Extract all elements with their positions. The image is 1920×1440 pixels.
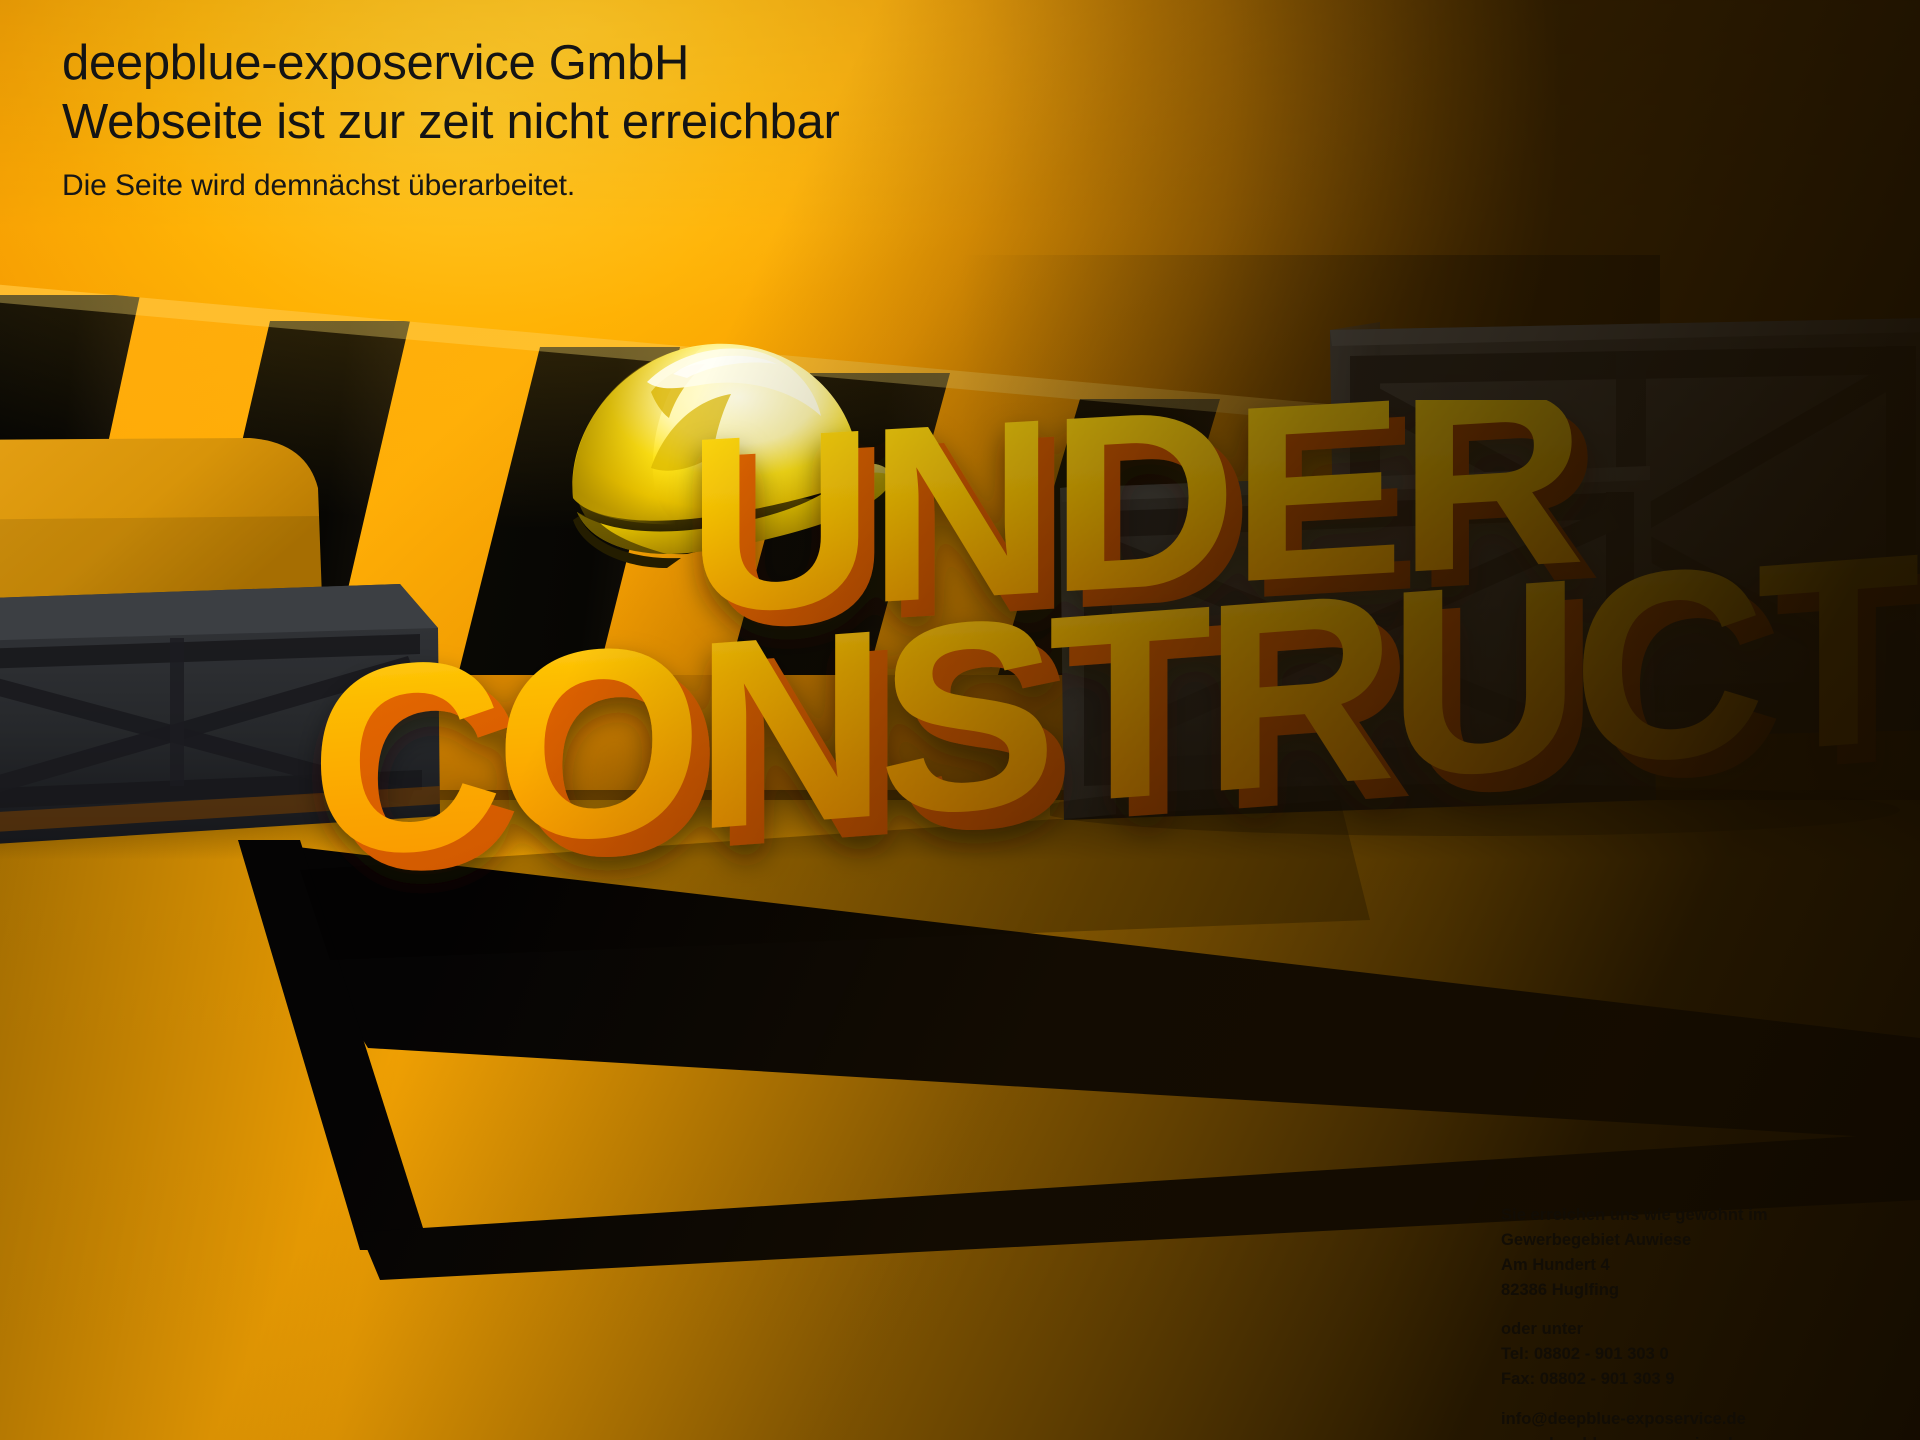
contact-line-area: Gewerbegebiet Auwiese (1501, 1228, 1768, 1253)
under-construction-page: UNDER UNDER CONSTRUCTION CONSTRUCTION de… (0, 0, 1920, 1440)
contact-spacer-1 (1501, 1303, 1768, 1317)
contact-line-fax: Fax: 08802 - 901 303 9 (1501, 1367, 1768, 1392)
contact-line-street: Am Hundert 4 (1501, 1253, 1768, 1278)
contact-block: Sie erreichen uns wie gewohnt im Gewerbe… (1501, 1203, 1768, 1440)
page-title: Webseite ist zur zeit nicht erreichbar (62, 91, 1212, 155)
contact-line-phone: Tel: 08802 - 901 303 0 (1501, 1342, 1768, 1367)
contact-website-link[interactable]: www.deepblue-exposervice.de (1501, 1432, 1768, 1440)
page-header: deepblue-exposervice GmbH Webseite ist z… (62, 36, 1212, 208)
page-subtitle: Die Seite wird demnächst überarbeitet. (62, 163, 1212, 208)
company-name: deepblue-exposervice GmbH (62, 36, 1212, 91)
contact-spacer-2 (1501, 1393, 1768, 1407)
contact-email-link[interactable]: info@deepblue-exposervice.de (1501, 1407, 1768, 1432)
contact-line-intro: Sie erreichen uns wie gewohnt im (1501, 1203, 1768, 1228)
contact-line-oder: oder unter (1501, 1317, 1768, 1342)
contact-line-city: 82386 Huglfing (1501, 1278, 1768, 1303)
